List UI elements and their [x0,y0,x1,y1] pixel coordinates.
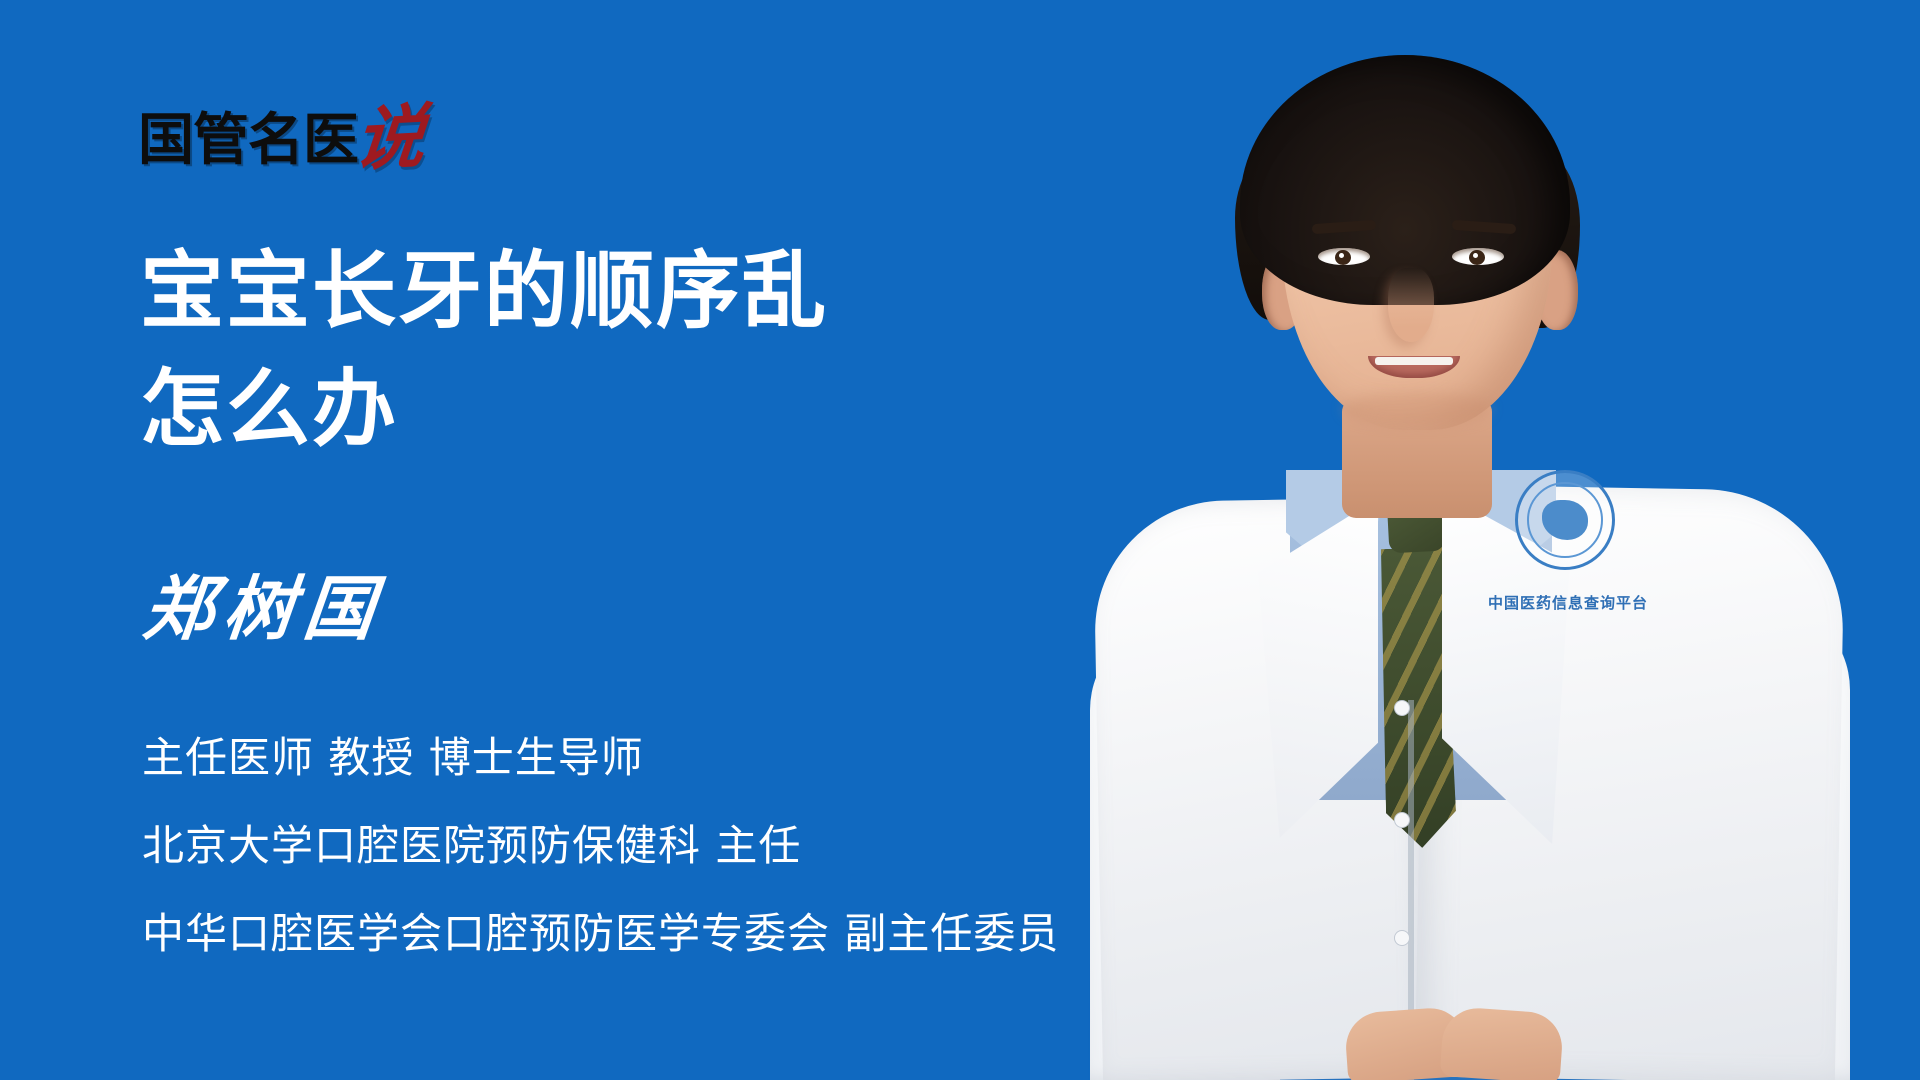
platform-badge-icon [1515,470,1615,570]
platform-badge-label: 中国医药信息查询平台 [1462,592,1674,613]
logo-accent-text: 说 [352,107,426,170]
chin-shading [1342,392,1492,426]
coat-button [1394,812,1410,828]
video-cover-slide: 国管名医 说 宝宝长牙的顺序乱 怎么办 郑树国 主任医师 教授 博士生导师 北京… [0,0,1920,1080]
nose [1388,268,1434,342]
right-pupil [1469,250,1485,265]
right-eye [1452,248,1504,265]
left-pupil [1335,250,1351,265]
doctor-portrait: 中国医药信息查询平台 [990,0,1920,1080]
right-hand [1440,1006,1565,1080]
left-eye [1318,248,1370,265]
doctor-name: 郑树国 [140,568,389,650]
coat-button [1394,700,1410,716]
logo-main-text: 国管名医 [138,112,358,170]
program-logo: 国管名医 说 [138,104,420,170]
coat-button [1394,930,1410,946]
